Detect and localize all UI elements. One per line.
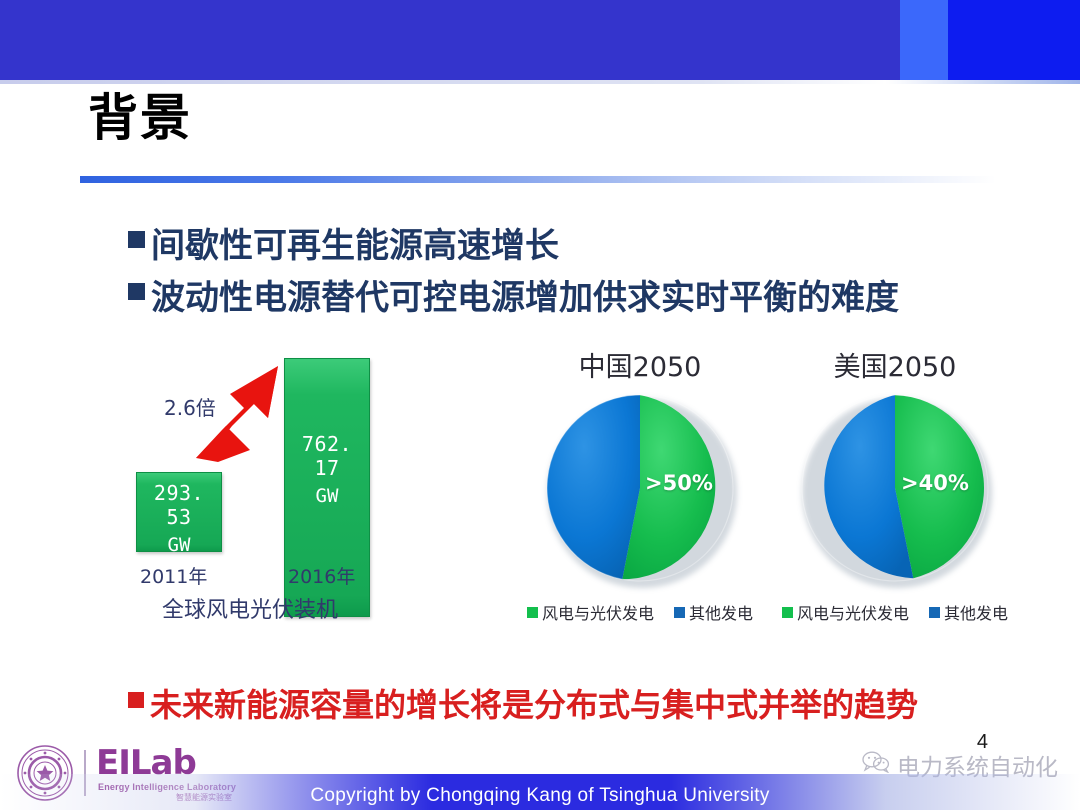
pie-usa-data-label: >40%: [901, 471, 969, 495]
legend-swatch-green-icon: [527, 607, 538, 618]
pie-china-title: 中国2050: [510, 345, 770, 384]
bar-2011-value: 293. 53: [137, 481, 221, 529]
page-title: 背景: [88, 93, 192, 143]
pie-usa-legend: 风电与光伏发电 其他发电: [765, 600, 1025, 624]
copyright-text: Copyright by Chongqing Kang of Tsinghua …: [0, 785, 1080, 807]
bar-2016-unit: GW: [285, 485, 369, 507]
bar-2016-value: 762. 17: [285, 432, 369, 480]
legend-label-renewable: 风电与光伏发电: [797, 600, 909, 624]
pie-chart-usa-2050: 美国2050: [765, 345, 1025, 635]
square-bullet-icon: [128, 231, 145, 248]
header-underline: [0, 80, 1080, 84]
bullet-item-2-label: 波动性电源替代可控电源增加供求实时平衡的难度: [151, 270, 899, 319]
legend-item-renewable: 风电与光伏发电: [782, 600, 909, 624]
growth-multiplier-label: 2.6倍: [164, 392, 216, 421]
bullet-item-2: 波动性电源替代可控电源增加供求实时平衡的难度: [128, 270, 899, 319]
legend-label-other: 其他发电: [689, 600, 753, 624]
presentation-slide: 背景 间歇性可再生能源高速增长 波动性电源替代可控电源增加供求实时平衡的难度 2…: [0, 0, 1080, 810]
pie-china-legend: 风电与光伏发电 其他发电: [510, 600, 770, 624]
legend-label-renewable: 风电与光伏发电: [542, 600, 654, 624]
header-band-deep-stripe: [948, 0, 1080, 80]
pie-china-graphic: >50%: [545, 393, 735, 583]
header-band: [0, 0, 1080, 80]
bar-xlabel-2016: 2016年: [288, 562, 355, 589]
bullet-item-1-label: 间歇性可再生能源高速增长: [151, 218, 559, 267]
bar-xlabel-2011: 2011年: [140, 562, 207, 589]
legend-item-other: 其他发电: [674, 600, 753, 624]
title-divider-rule: [80, 176, 996, 183]
bar-2011-unit: GW: [137, 534, 221, 556]
conclusion-statement: 未来新能源容量的增长将是分布式与集中式并举的趋势: [128, 680, 918, 726]
header-band-light-stripe: [900, 0, 948, 80]
legend-item-other: 其他发电: [929, 600, 1008, 624]
pie-chart-china-2050: 中国2050: [510, 345, 770, 635]
pie-china-data-label: >50%: [645, 471, 713, 495]
legend-swatch-green-icon: [782, 607, 793, 618]
conclusion-label: 未来新能源容量的增长将是分布式与集中式并举的趋势: [150, 680, 918, 726]
bar-chart-global-wind-solar: 2.6倍 293. 53 GW 762. 17 GW 2011年 2016年 全…: [120, 340, 440, 630]
header-band-main: [0, 0, 900, 80]
bar-2011: 293. 53 GW: [136, 472, 222, 552]
pie-usa-graphic: >40%: [800, 393, 990, 583]
bar-chart-caption: 全球风电光伏装机: [162, 592, 338, 624]
square-bullet-icon: [128, 692, 144, 708]
pie-usa-title: 美国2050: [765, 345, 1025, 384]
legend-item-renewable: 风电与光伏发电: [527, 600, 654, 624]
legend-label-other: 其他发电: [944, 600, 1008, 624]
legend-swatch-blue-icon: [674, 607, 685, 618]
legend-swatch-blue-icon: [929, 607, 940, 618]
square-bullet-icon: [128, 283, 145, 300]
bullet-item-1: 间歇性可再生能源高速增长: [128, 218, 559, 267]
